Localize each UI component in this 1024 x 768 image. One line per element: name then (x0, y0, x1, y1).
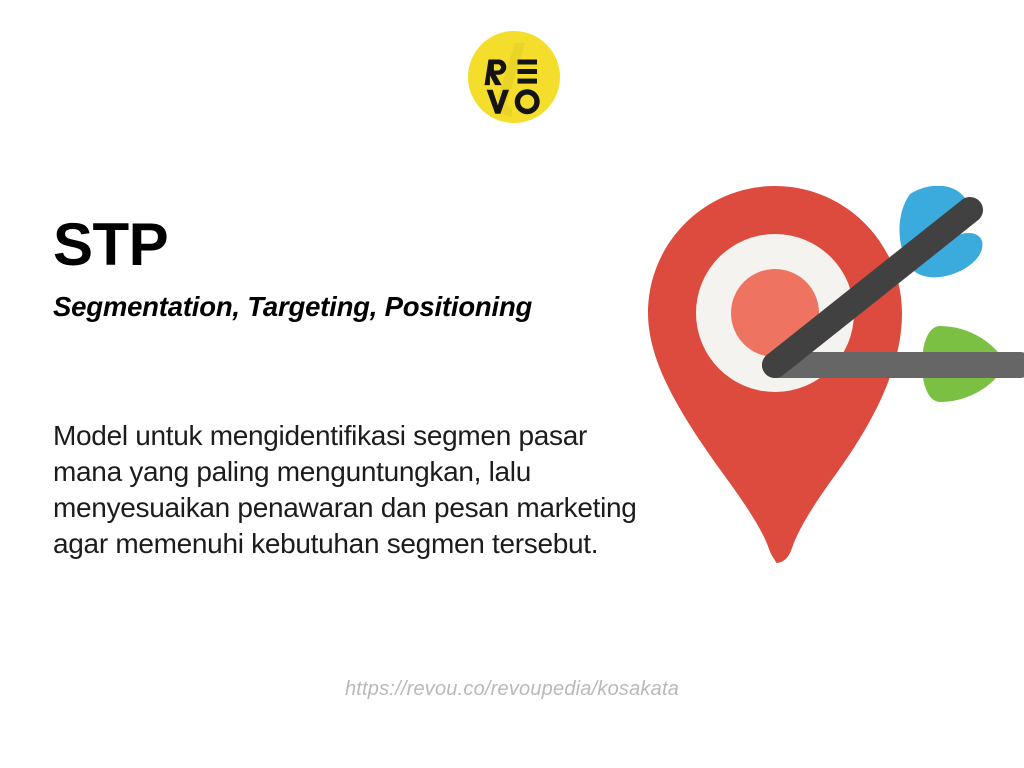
body-description: Model untuk mengidentifikasi segmen pasa… (53, 418, 683, 562)
page-title: STP (53, 214, 673, 276)
footer-url[interactable]: https://revou.co/revoupedia/kosakata (0, 678, 1024, 701)
revou-logo-icon (468, 31, 560, 123)
text-content-block: STP Segmentation, Targeting, Positioning… (53, 214, 673, 324)
body-line: agar memenuhi kebutuhan segmen tersebut. (53, 526, 683, 562)
revou-logo (468, 31, 560, 123)
location-pin-target-icon (648, 186, 1024, 586)
target-pin-arrows-graphic (648, 186, 1024, 586)
body-line: mana yang paling menguntungkan, lalu (53, 454, 683, 490)
slide-canvas: STP Segmentation, Targeting, Positioning… (0, 0, 1024, 768)
body-line: menyesuaikan penawaran dan pesan marketi… (53, 490, 683, 526)
body-line: Model untuk mengidentifikasi segmen pasa… (53, 418, 683, 454)
page-subtitle: Segmentation, Targeting, Positioning (53, 290, 673, 324)
